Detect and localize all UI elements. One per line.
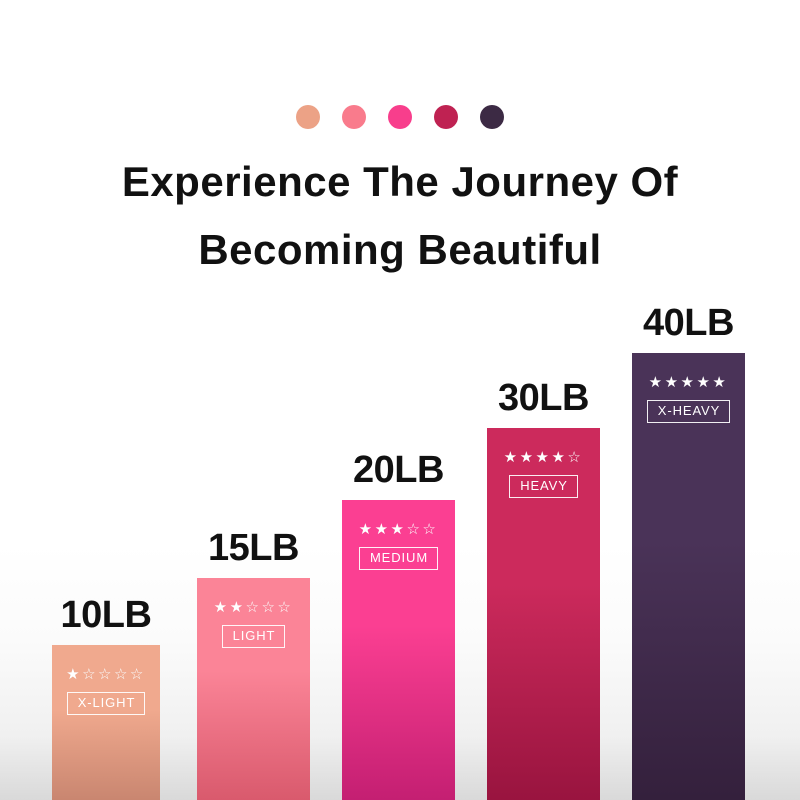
level-badge-10lb: X-LIGHT: [67, 692, 146, 715]
level-badge-40lb: X-HEAVY: [647, 400, 730, 423]
bar-20lb: ★★★☆☆MEDIUM: [342, 500, 455, 800]
infographic-canvas: Experience The Journey Of Becoming Beaut…: [0, 0, 800, 800]
bar-group-10lb[interactable]: 10LB★☆☆☆☆X-LIGHT: [52, 645, 160, 800]
bar-group-30lb[interactable]: 30LB★★★★☆HEAVY: [487, 428, 600, 800]
bar-15lb: ★★☆☆☆LIGHT: [197, 578, 310, 800]
star-rating-15lb: ★★☆☆☆: [214, 600, 294, 615]
level-badge-20lb: MEDIUM: [359, 547, 438, 570]
bar-40lb: ★★★★★X-HEAVY: [632, 353, 745, 800]
bar-value-label-10lb: 10LB: [61, 594, 152, 637]
resistance-band-bar-chart: 10LB★☆☆☆☆X-LIGHT15LB★★☆☆☆LIGHT20LB★★★☆☆M…: [0, 0, 800, 800]
level-badge-15lb: LIGHT: [222, 625, 286, 648]
level-badge-30lb: HEAVY: [509, 475, 578, 498]
bar-value-label-15lb: 15LB: [208, 527, 299, 570]
bar-10lb: ★☆☆☆☆X-LIGHT: [52, 645, 160, 800]
bar-value-label-30lb: 30LB: [498, 377, 589, 420]
bar-value-label-40lb: 40LB: [643, 302, 734, 345]
bar-group-20lb[interactable]: 20LB★★★☆☆MEDIUM: [342, 500, 455, 800]
star-rating-20lb: ★★★☆☆: [359, 522, 439, 537]
bar-group-40lb[interactable]: 40LB★★★★★X-HEAVY: [632, 353, 745, 800]
star-rating-30lb: ★★★★☆: [504, 450, 584, 465]
bar-value-label-20lb: 20LB: [353, 449, 444, 492]
bar-group-15lb[interactable]: 15LB★★☆☆☆LIGHT: [197, 578, 310, 800]
bar-30lb: ★★★★☆HEAVY: [487, 428, 600, 800]
star-rating-40lb: ★★★★★: [649, 375, 729, 390]
star-rating-10lb: ★☆☆☆☆: [66, 667, 146, 682]
